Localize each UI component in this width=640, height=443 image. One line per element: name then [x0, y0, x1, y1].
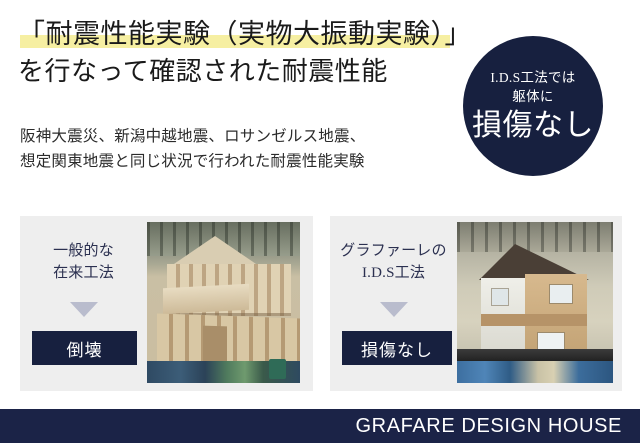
brand-name: GRAFARE DESIGN HOUSE — [356, 415, 640, 438]
headline-block: 「耐震性能実験（実物大振動実験）」 を行なって確認された耐震性能 — [18, 16, 458, 90]
panel-label-line-1: グラファーレの — [330, 240, 457, 262]
panel-label-conventional: 一般的な 在来工法 — [20, 240, 147, 284]
panel-label-ids: グラファーレの I.D.S工法 — [330, 240, 457, 284]
subcopy-line-1: 阪神大震災、新潟中越地震、ロサンゼルス地震、 — [20, 124, 450, 149]
subcopy-block: 阪神大震災、新潟中越地震、ロサンゼルス地震、 想定関東地震と同じ状況で行われた耐… — [20, 124, 450, 174]
subcopy-line-2: 想定関東地震と同じ状況で行われた耐震性能実験 — [20, 149, 450, 174]
house-balcony — [163, 284, 249, 315]
comparison-panel-ids: グラファーレの I.D.S工法 損傷なし — [330, 216, 622, 391]
down-triangle-icon — [70, 302, 98, 317]
headline-line-2: を行なって確認された耐震性能 — [18, 54, 458, 90]
panel-label-line-2: 在来工法 — [20, 262, 147, 284]
comparison-panel-conventional: 一般的な 在来工法 倒壊 — [20, 216, 313, 391]
headline-line-1-text: 「耐震性能実験（実物大振動実験）」 — [18, 19, 472, 49]
badge-line-2: 躯体に — [512, 87, 553, 106]
infographic-root: 「耐震性能実験（実物大振動実験）」 を行なって確認された耐震性能 阪神大震災、新… — [0, 0, 640, 443]
house-gable — [171, 236, 259, 266]
panel-label-line-2: I.D.S工法 — [330, 262, 457, 284]
headline-line-1: 「耐震性能実験（実物大振動実験）」 — [18, 16, 458, 52]
down-triangle-icon — [380, 302, 408, 317]
ground-tarp — [457, 361, 613, 383]
brand-bar: GRAFARE DESIGN HOUSE — [0, 409, 640, 443]
badge-headline: 損傷なし — [472, 108, 594, 144]
headline-line-2-text: を行なって確認された耐震性能 — [18, 57, 388, 86]
result-badge-collapse: 倒壊 — [32, 331, 137, 365]
house-window-upper-right — [549, 284, 573, 304]
photo-collapsed-house — [147, 222, 300, 383]
no-damage-badge: I.D.S工法では 躯体に 損傷なし — [463, 36, 603, 176]
house-facade-band — [481, 314, 587, 326]
equipment-bucket — [269, 359, 286, 379]
house-window-upper-left — [491, 288, 509, 306]
photo-intact-house — [457, 222, 613, 383]
result-badge-no-damage: 損傷なし — [342, 331, 452, 365]
badge-line-1: I.D.S工法では — [490, 68, 575, 87]
panel-label-line-1: 一般的な — [20, 240, 147, 262]
